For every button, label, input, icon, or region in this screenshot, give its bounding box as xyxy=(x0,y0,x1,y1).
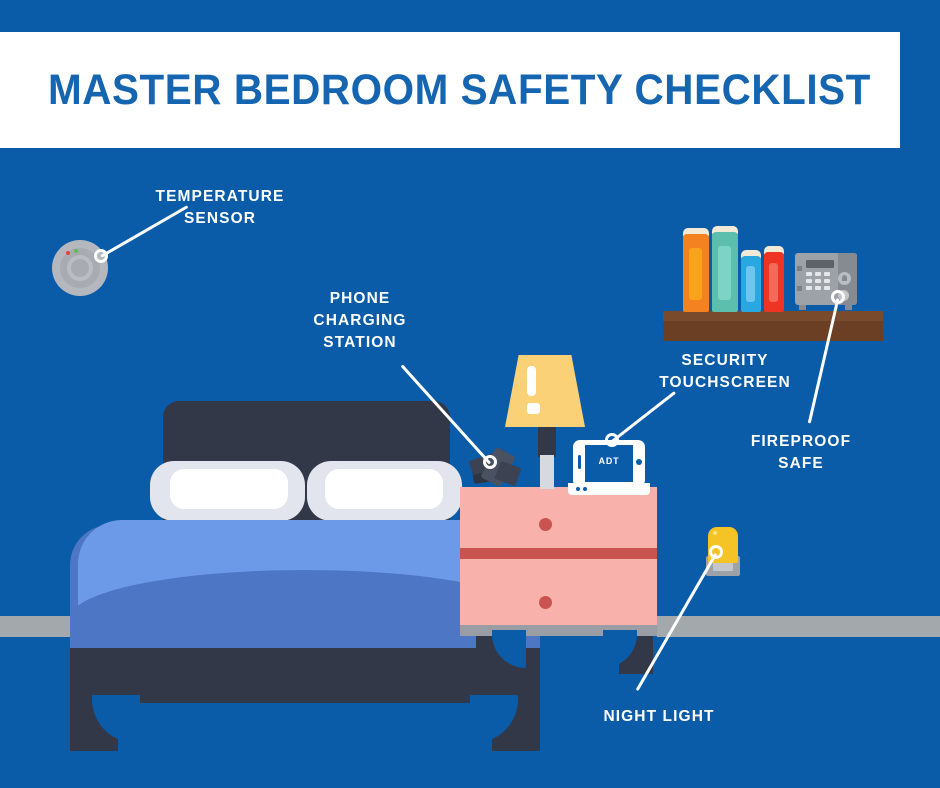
label-night-light: NIGHT LIGHT xyxy=(578,706,740,728)
nightstand-leg-right-cut xyxy=(603,630,637,668)
sensor-led-red xyxy=(66,251,70,255)
safe-key-6[interactable] xyxy=(824,279,830,283)
nightstand-knob-top[interactable] xyxy=(539,518,552,531)
label-fireproof-safe: FIREPROOF SAFE xyxy=(727,431,875,475)
leader-dot-night-light xyxy=(709,545,723,559)
label-phone-charging: PHONE CHARGING STATION xyxy=(280,288,440,354)
leader-dot-temperature-sensor xyxy=(94,249,108,263)
safe-foot-left xyxy=(799,305,806,310)
lamp-shade xyxy=(505,355,585,427)
touchscreen-stand-led-1 xyxy=(576,487,580,491)
touchscreen-stand-led-2 xyxy=(583,487,587,491)
bed-leg-left xyxy=(70,703,118,751)
page-title: MASTER BEDROOM SAFETY CHECKLIST xyxy=(48,32,871,148)
nightstand-leg-left-cut xyxy=(492,630,526,668)
nightstand-drawer-divider xyxy=(460,548,657,559)
night-light-glow-dot xyxy=(713,531,717,535)
safe-key-1[interactable] xyxy=(806,272,812,276)
title-banner: MASTER BEDROOM SAFETY CHECKLIST xyxy=(0,32,900,148)
safe-display xyxy=(806,260,834,268)
book-blue-stripe xyxy=(746,266,755,302)
safe-key-5[interactable] xyxy=(815,279,821,283)
bed-leg-left-cut xyxy=(92,695,140,743)
safe-hinge-top xyxy=(797,266,802,271)
wall-shelf-top xyxy=(663,311,883,321)
pillow-right xyxy=(307,461,462,521)
lamp-neck xyxy=(538,427,556,457)
safe-foot-right xyxy=(845,305,852,310)
bed-leg-right xyxy=(492,703,540,751)
safe-dial-indicator xyxy=(842,275,847,281)
safe-key-8[interactable] xyxy=(815,286,821,290)
infographic-canvas: MASTER BEDROOM SAFETY CHECKLIST xyxy=(0,0,940,788)
nightstand-leg-left xyxy=(476,636,510,674)
safe-key-2[interactable] xyxy=(815,272,821,276)
bed-leg-right-cut xyxy=(470,695,518,743)
pillow-left xyxy=(150,461,305,521)
leader-dot-phone-charging xyxy=(483,455,497,469)
baseboard-left xyxy=(0,616,70,637)
wall-shelf-front xyxy=(663,321,883,341)
safe-key-9[interactable] xyxy=(824,286,830,290)
book-teal-stripe xyxy=(718,246,731,300)
book-red-stripe xyxy=(769,263,778,302)
touchscreen-brand-label: ADT xyxy=(585,456,633,466)
nightstand-knob-bottom[interactable] xyxy=(539,596,552,609)
lamp-highlight-dot xyxy=(527,403,540,414)
safe-key-3[interactable] xyxy=(824,272,830,276)
sensor-ring-4 xyxy=(71,259,89,277)
touchscreen-home-button[interactable] xyxy=(636,459,642,465)
label-temperature-sensor: TEMPERATURE SENSOR xyxy=(140,186,300,230)
label-security-touchscreen: SECURITY TOUCHSCREEN xyxy=(636,350,814,394)
safe-key-7[interactable] xyxy=(806,286,812,290)
leader-dot-security-touchscreen xyxy=(605,433,619,447)
safe-key-4[interactable] xyxy=(806,279,812,283)
touchscreen-side-button[interactable] xyxy=(578,455,581,469)
lamp-stem xyxy=(540,455,554,489)
lamp-highlight-bar xyxy=(527,366,536,396)
leader-line-security-touchscreen xyxy=(611,391,676,443)
pillow-right-inner xyxy=(325,469,443,509)
sensor-led-green xyxy=(74,249,78,253)
leader-dot-fireproof-safe xyxy=(831,290,845,304)
book-orange-stripe xyxy=(689,248,702,300)
pillow-left-inner xyxy=(170,469,288,509)
safe-hinge-bottom xyxy=(797,286,802,291)
baseboard-right xyxy=(657,616,940,637)
